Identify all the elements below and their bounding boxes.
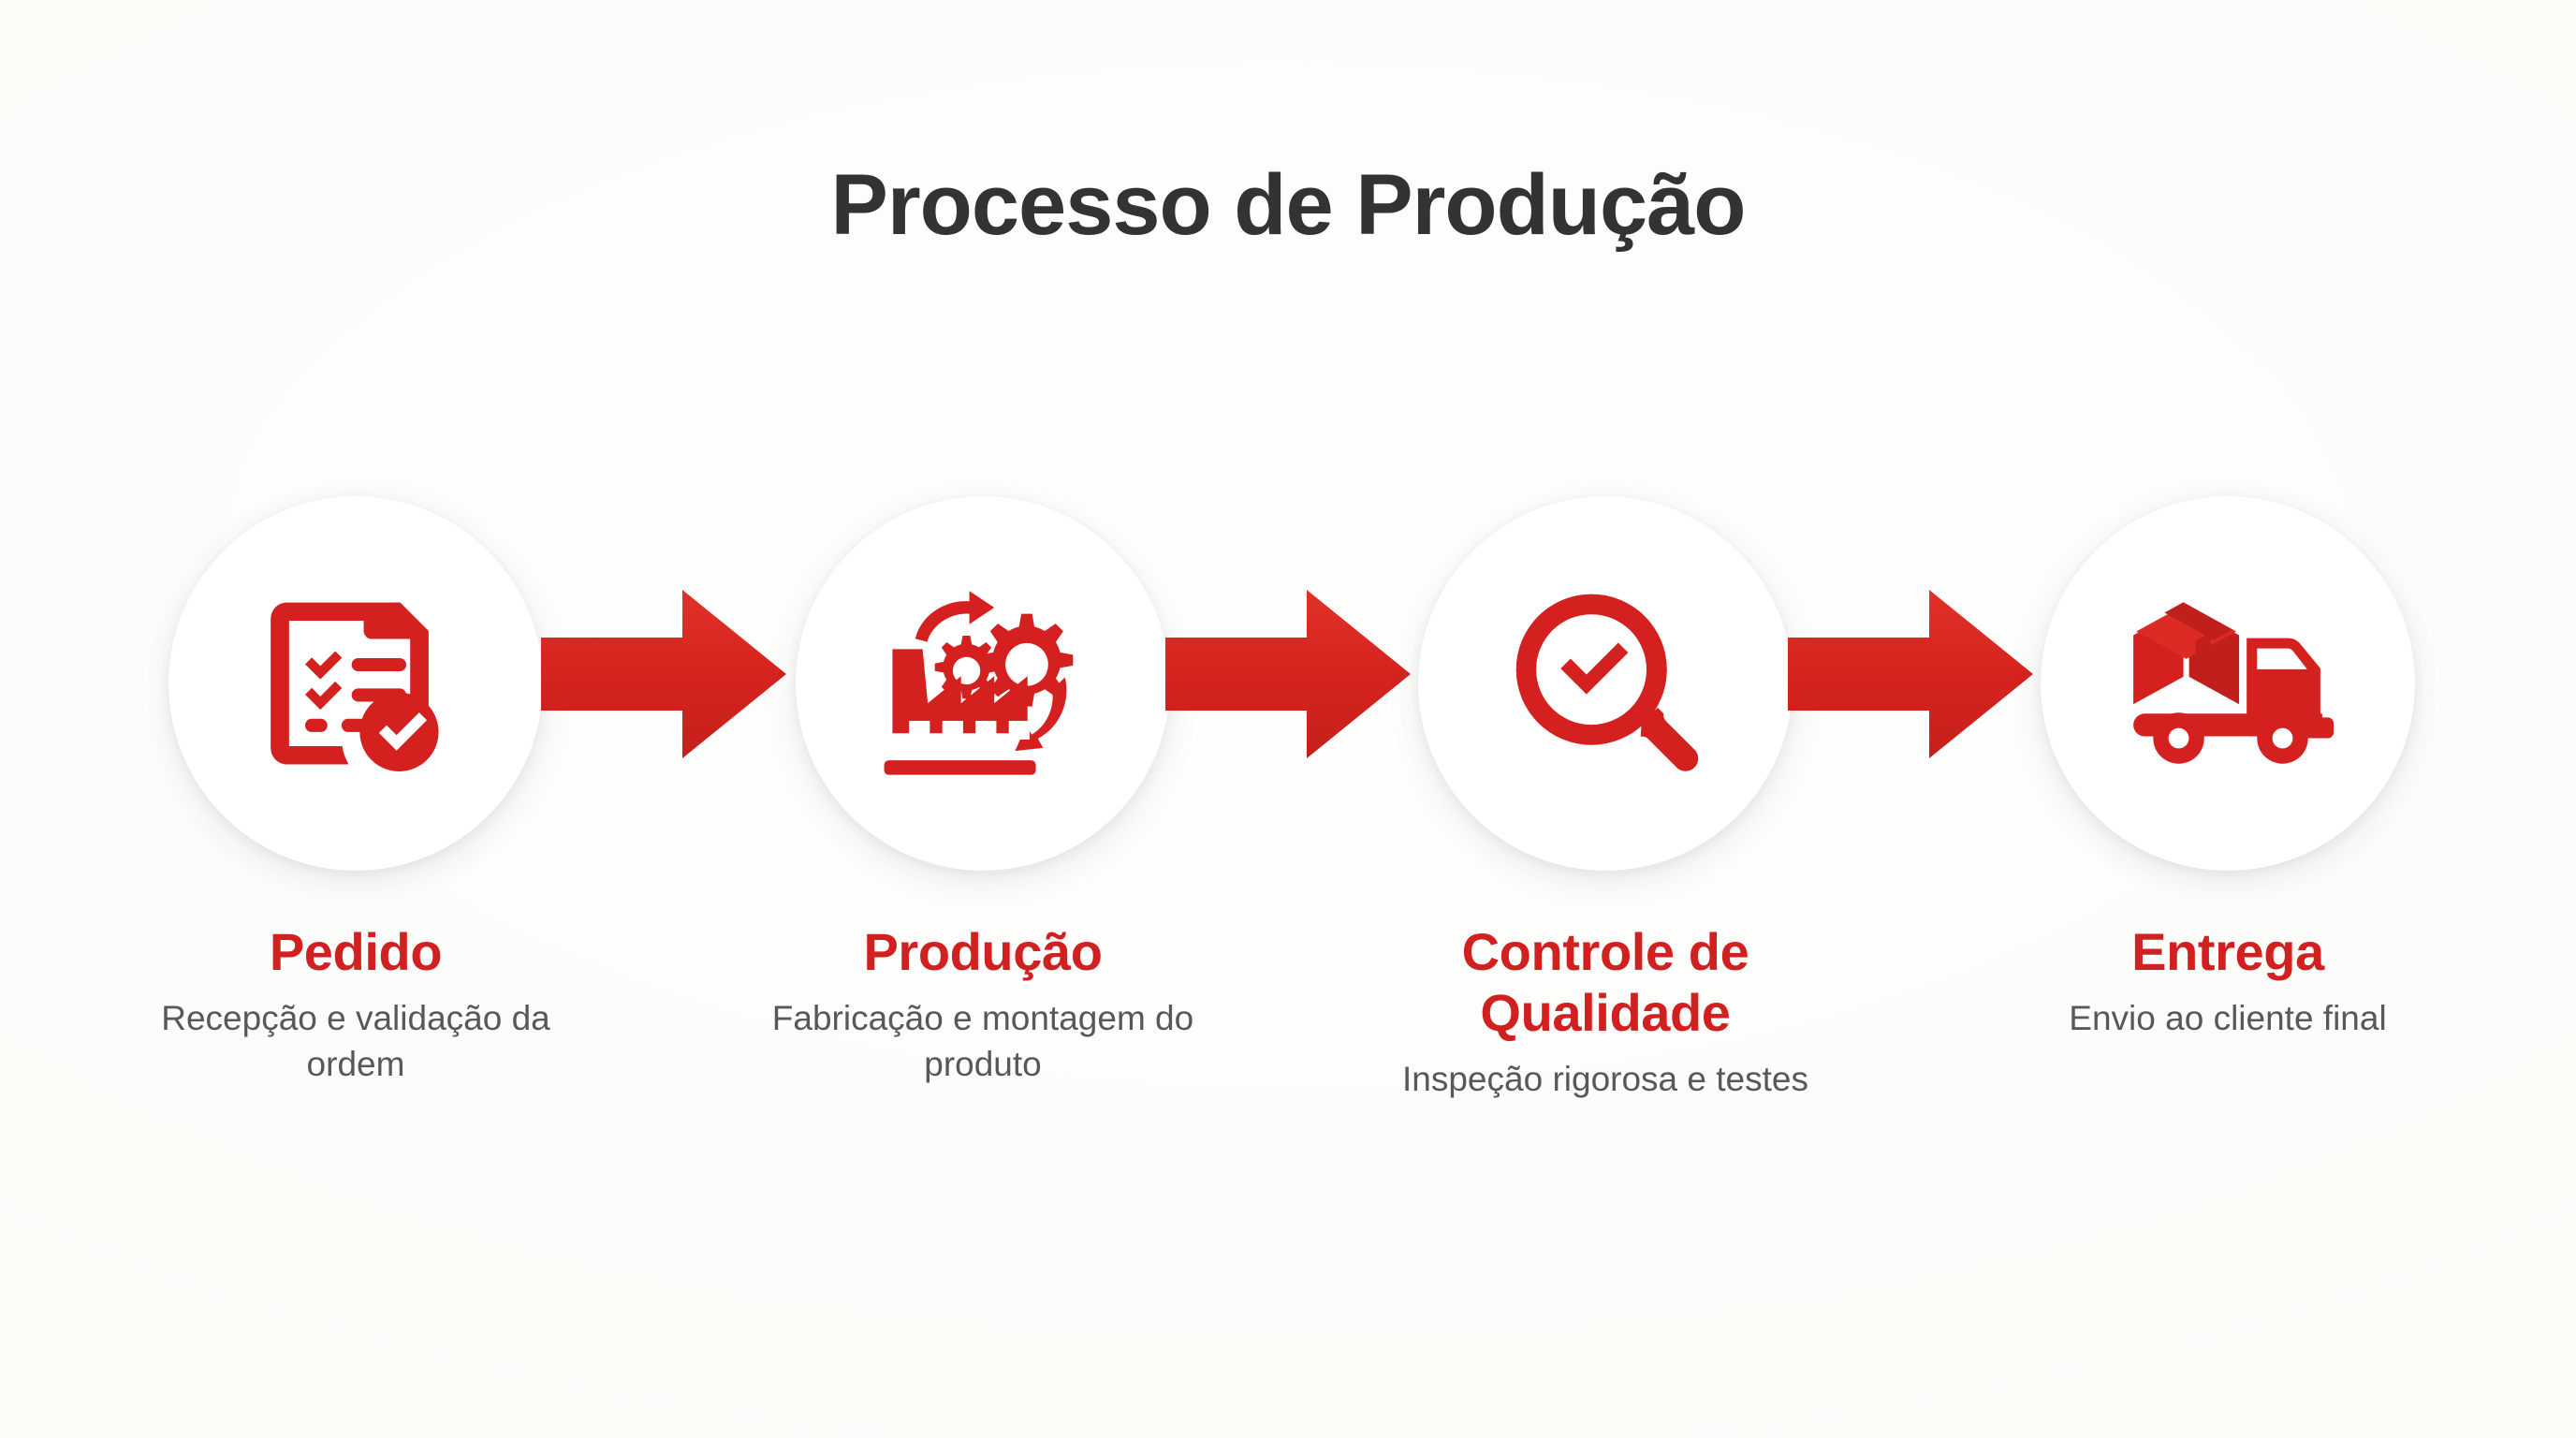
step-caption-pedido: Pedido Recepção e validação da ordem [136,922,576,1088]
step-title: Pedido [136,922,576,983]
magnifier-check-icon [1506,584,1705,783]
step-title: Entrega [2008,922,2448,983]
step-description: Recepção e validação da ordem [136,996,576,1088]
flow-arrow-icon-2 [1165,580,1411,768]
step-description: Envio ao cliente final [2008,996,2448,1042]
factory-gears-icon [879,580,1087,787]
step-caption-producao: Produção Fabricação e montagem do produt… [763,922,1203,1088]
flow-arrow-icon-1 [541,580,786,768]
process-step-node-entrega[interactable] [2031,487,2424,880]
process-flow-row [0,468,2576,899]
process-step-node-pedido[interactable] [159,487,552,880]
process-step-node-controle-de-qualidade[interactable] [1409,487,1802,880]
step-icon-circle [796,496,1170,871]
page-title: Processo de Produção [0,159,2576,252]
process-step-node-producao[interactable] [786,487,1179,880]
step-icon-circle [2041,496,2415,871]
process-captions-row: Pedido Recepção e validação da ordem Pro… [0,922,2576,1222]
step-icon-circle [1418,496,1793,871]
step-title: Controle de Qualidade [1385,922,1825,1044]
flow-arrow-icon-3 [1788,580,2033,768]
document-checklist-approved-icon [255,582,457,785]
step-title: Produção [763,922,1203,983]
step-description: Fabricação e montagem do produto [763,996,1203,1088]
step-icon-circle [168,496,543,871]
step-description: Inspeção rigorosa e testes [1385,1057,1825,1103]
step-caption-controle-de-qualidade: Controle de Qualidade Inspeção rigorosa … [1385,922,1825,1103]
step-caption-entrega: Entrega Envio ao cliente final [2008,922,2448,1042]
infographic-canvas: Processo de Produção [0,0,2576,1438]
delivery-truck-box-icon [2122,587,2334,780]
